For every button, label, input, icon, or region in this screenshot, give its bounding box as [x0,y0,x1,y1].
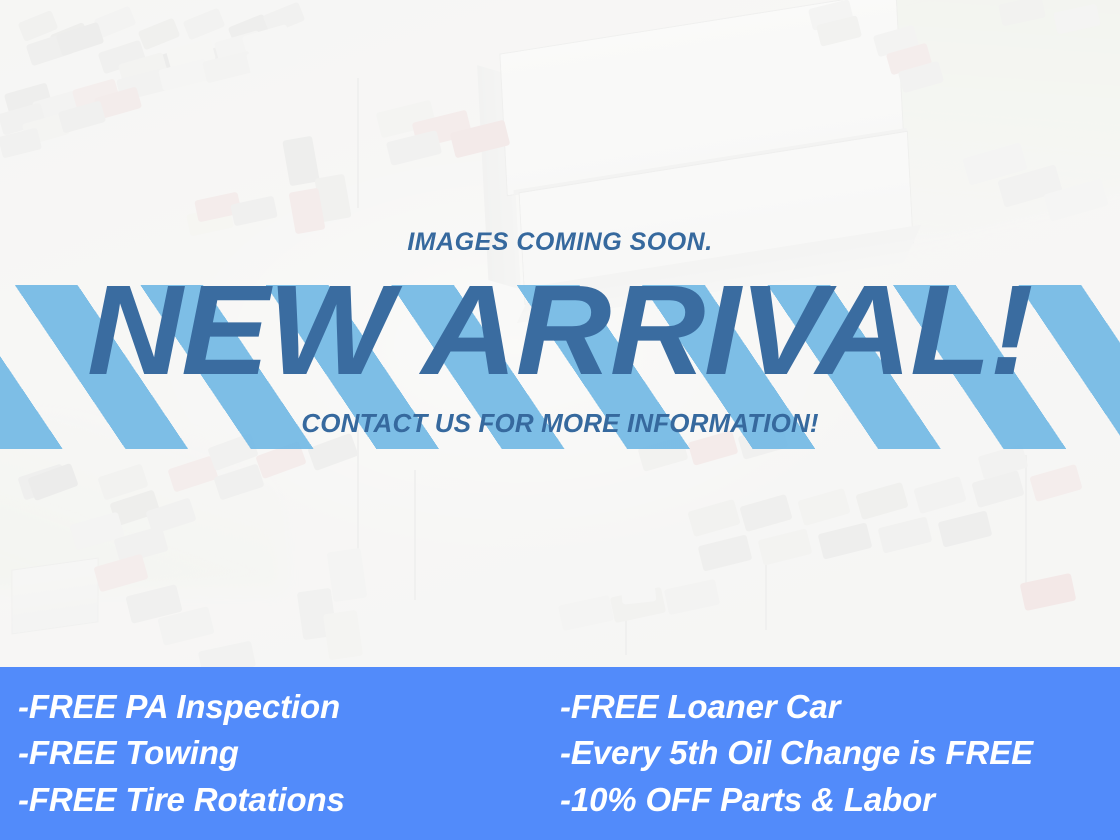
light-pole [357,430,359,550]
offer-item: -FREE Loaner Car [560,687,1120,727]
parked-vehicle [148,635,206,667]
parked-vehicle [327,548,368,602]
parked-vehicle [664,579,720,615]
parked-vehicle [687,499,740,537]
light-pole [1025,455,1027,595]
offers-column-left: -FREE PA Inspection -FREE Towing -FREE T… [0,687,548,820]
light-pole [414,470,416,600]
parked-truck [386,130,442,166]
parked-vehicle-red [688,430,739,466]
photo-terrain-layer [0,0,1120,667]
parked-vehicle [198,641,256,667]
offer-item: -FREE Towing [18,733,548,773]
new-arrival-placard: IMAGES COMING SOON. NEW ARRIVAL! CONTACT… [0,0,1120,840]
parked-vehicle [638,436,689,472]
parked-vehicle [855,482,908,520]
parked-vehicle [307,433,358,471]
offer-item: -FREE Tire Rotations [18,780,548,820]
parked-vehicle [558,595,614,631]
parked-vehicle [738,424,789,460]
parked-vehicle [938,510,993,547]
parked-vehicle [618,553,657,604]
parked-vehicle [758,528,813,565]
offers-bar: -FREE PA Inspection -FREE Towing -FREE T… [0,667,1120,840]
parked-vehicle [56,22,105,57]
dealership-aerial-photo [0,0,1120,667]
parked-vehicle [913,476,966,514]
parked-vehicle [282,136,320,187]
parked-vehicle [698,534,753,571]
parked-vehicle [739,494,792,532]
offer-item: -FREE PA Inspection [18,687,548,727]
offer-item: -10% OFF Parts & Labor [560,780,1120,820]
parked-vehicle-red [1029,464,1082,502]
parked-vehicle [878,516,933,553]
parked-vehicle [818,522,873,559]
offer-item: -Every 5th Oil Change is FREE [560,733,1120,773]
light-pole [357,78,359,208]
parked-vehicle [138,18,181,51]
outbuilding [12,559,97,634]
parked-vehicle [323,610,363,660]
offers-column-right: -FREE Loaner Car -Every 5th Oil Change i… [548,687,1120,820]
parked-vehicle [797,488,850,526]
parked-vehicle-red [1020,573,1077,611]
parked-vehicle [183,8,226,41]
